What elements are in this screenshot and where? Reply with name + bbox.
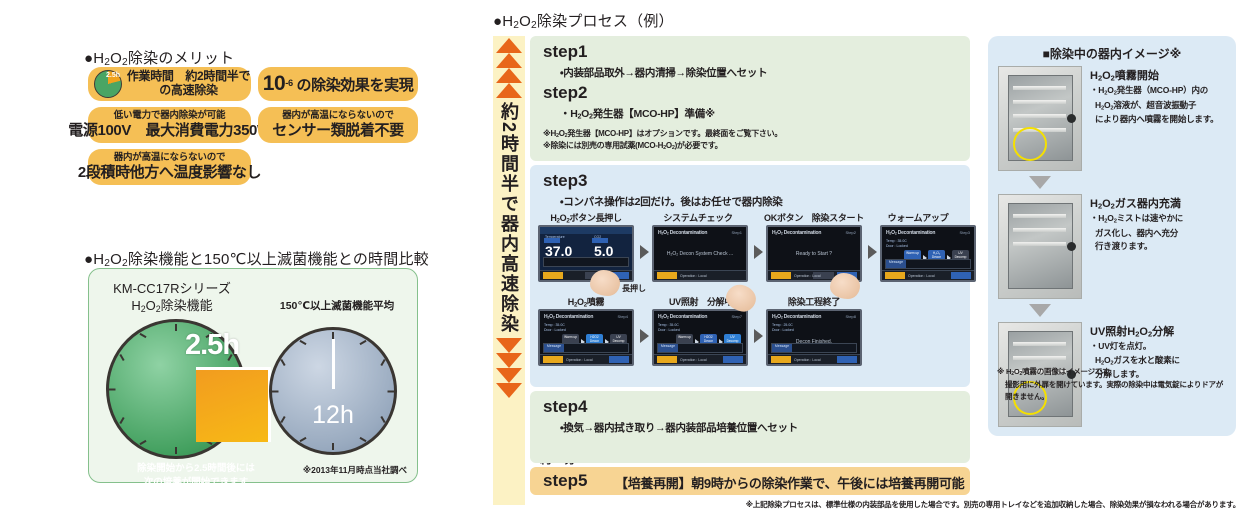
left-column: ●H2O2除染のメリット 2.5h 作業時間 約2時間半での高速除染 10-6 … xyxy=(0,0,470,530)
step1-description: ・内装部品取外→器内清掃→除染位置へセット xyxy=(560,65,767,80)
screen-operation-label: Operation : Local xyxy=(680,274,707,278)
screen-caption-system-check: システムチェック xyxy=(648,211,748,224)
log-reduction-exponent: -6 xyxy=(285,78,292,88)
merit-pill-low-power: 低い電力で器内除染が可能 電源100V 最大消費電力350W xyxy=(88,107,251,143)
screen-operation-label: Operation : Local xyxy=(794,274,821,278)
clock-green-caption: 除染開始から2.5時間後には 次の培養が開始できます xyxy=(128,462,264,490)
step-block-restart: step5 【培養再開】朝9時からの除染作業で、午後には培養再開可能 xyxy=(530,467,970,495)
chamber-photo-spray xyxy=(998,66,1082,171)
screen-step: Step4 xyxy=(618,314,628,319)
chamber-step-2-heading: H2O2ガス器内充満 xyxy=(1090,195,1181,211)
brochure-page: ●H2O2除染のメリット 2.5h 作業時間 約2時間半での高速除染 10-6 … xyxy=(0,0,1240,530)
control-panel-screen-home[interactable]: Temperature CO2 37.0 5.0 xyxy=(538,225,634,282)
finger-press-icon xyxy=(590,270,620,296)
screen-step: Step8 xyxy=(846,314,856,319)
step-block-decon: step3 ・コンパネ操作は2回だけ。後はお任せで器内除染 H2O2ボタン長押し… xyxy=(530,165,970,387)
merit-heading: ●H2O2除染のメリット xyxy=(84,47,234,68)
pie-clock-icon: 2.5h xyxy=(94,70,122,98)
chamber-step-2-body-line3: 行き渡ります。 xyxy=(1090,240,1183,254)
chamber-step-3-body-line1: ・UV灯を点灯。 xyxy=(1090,340,1180,354)
log-reduction-label: の除染効果を実現 xyxy=(297,77,414,94)
chamber-step-2-body: ・H2O2ミストは速やかに ガス化し、器内へ充分 行き渡ります。 xyxy=(1090,212,1183,254)
clock-green-caption-line2: 次の培養が開始できます xyxy=(128,476,264,490)
screen-title: H2O2 Decontamination xyxy=(772,314,821,320)
chamber-step-1-body-line2: H2O2溶液が、超音波振動子 xyxy=(1090,99,1218,114)
prep-note-2: ※除染には別売の専用試薬(MCO-H2O2)が必要です。 xyxy=(543,140,722,153)
step-block-cleanup: step4 ・換気→器内拭き取り→器内装部品培養位置へセット xyxy=(530,391,970,463)
screen-step: Step3 xyxy=(960,230,970,235)
chamber-image-panel-title: ■除染中の器内イメージ※ xyxy=(988,45,1236,62)
process-duration-rail: 約2時間半で器内高速除染 xyxy=(493,36,525,505)
merit-pill-no-heat-transfer-label: 2段積時他方へ温度影響なし xyxy=(78,164,261,181)
control-panel-screen-finished[interactable]: H2O2 Decontamination Step8 Temp : 25.0C … xyxy=(766,309,862,366)
chamber-step-3-heading: UV照射H2O2分解 xyxy=(1090,323,1174,339)
flow-arrow-down-icon xyxy=(1029,176,1051,189)
step4-description: ・換気→器内拭き取り→器内装部品培養位置へセット xyxy=(560,420,798,435)
rail-label: 約2時間半で器内高速除染 xyxy=(500,102,518,334)
flow-arrow-icon xyxy=(754,245,763,259)
merit-pill-log-reduction: 10-6 の除染効果を実現 xyxy=(258,67,418,101)
step-block-prep: step1 ・内装部品取外→器内清掃→除染位置へセット step2 ・H2O2発… xyxy=(530,36,970,161)
merit-pill-work-time-label: 作業時間 約2時間半での高速除染 xyxy=(126,70,251,98)
time-comparison-heading: ●H2O2除染機能と150℃以上滅菌機能との時間比較 xyxy=(84,248,429,269)
merit-pill-work-time: 2.5h 作業時間 約2時間半での高速除染 xyxy=(88,67,251,101)
merit-pill-no-heat-transfer-sub: 器内が高温にならないので xyxy=(114,153,226,164)
control-panel-screen-spray[interactable]: H2O2 Decontamination Step4 Temp : 35.0C … xyxy=(538,309,634,366)
step5-description: 【培養再開】朝9時からの除染作業で、午後には培養再開可能 xyxy=(615,473,964,492)
control-panel-screen-warmup[interactable]: H2O2 Decontamination Step3 Temp : 35.0C … xyxy=(880,225,976,282)
merit-pill-no-sensor-detach-sub: 器内が高温にならないので xyxy=(282,111,394,122)
flow-arrow-icon xyxy=(868,245,877,259)
rail-arrow-down-icon xyxy=(496,353,522,368)
screen-step: Step7 xyxy=(732,314,742,319)
screen-title: H2O2 Decontamination xyxy=(658,230,707,236)
chamber-step-2-body-line2: ガス化し、器内へ充分 xyxy=(1090,227,1183,241)
chamber-step-2-body-line1: ・H2O2ミストは速やかに xyxy=(1090,212,1183,227)
log-reduction-base: 10 xyxy=(263,72,286,95)
merit-pill-low-power-label: 電源100V 最大消費電力350W xyxy=(68,122,270,139)
rail-arrow-up-icon xyxy=(496,68,522,83)
chamber-step-1-body: ・H2O2発生器（MCO-HP）内の H2O2溶液が、超音波振動子 により器内へ… xyxy=(1090,84,1218,127)
screen-operation-label: Operation : Local xyxy=(794,358,821,362)
clock-green-title-line2: H2O2除染機能 xyxy=(97,298,247,315)
chamber-note-line2: 撮影用に外扉を開けています。実際の除染中は電気錠によりドアが xyxy=(997,379,1227,391)
screen-operation-label: Operation : Local xyxy=(908,274,935,278)
process-heading-text: ●H2O2除染プロセス（例） xyxy=(493,13,674,30)
screen-title: H2O2 Decontamination xyxy=(544,314,593,320)
clock-blue-hand xyxy=(332,339,335,389)
step4-title: step4 xyxy=(543,397,587,417)
screen-step: Step1 xyxy=(732,230,742,235)
flow-arrow-icon xyxy=(754,329,763,343)
flow-arrow-icon xyxy=(640,329,649,343)
step3-description: ・コンパネ操作は2回だけ。後はお任せで器内除染 xyxy=(560,194,782,209)
merit-pill-no-sensor-detach: 器内が高温にならないので センサー類脱着不要 xyxy=(258,107,418,143)
screen-operation-label: Operation : Local xyxy=(566,358,593,362)
step2-description: ・H2O2発生器【MCO-HP】準備※ xyxy=(560,106,715,121)
rail-arrow-up-icon xyxy=(496,83,522,98)
clock-green-caption-line1: 除染開始から2.5時間後には xyxy=(128,462,264,476)
time-comparison-footnote: ※2013年11月時点当社調べ xyxy=(303,464,407,476)
clock-blue-title: 150℃以上滅菌機能平均 xyxy=(267,298,407,313)
screen-title: H2O2 Decontamination xyxy=(772,230,821,236)
pie-clock-icon-label: 2.5h xyxy=(106,72,120,80)
screen-title: H2O2 Decontamination xyxy=(886,230,935,236)
screen-caption-decon-finished: 除染工程終了 xyxy=(762,295,866,308)
screen-message: H2O2 Decon System Check ... xyxy=(654,251,746,257)
flow-arrow-icon xyxy=(640,245,649,259)
chamber-note-line3: 開きません。 xyxy=(997,391,1227,403)
highlight-circle-icon xyxy=(1013,127,1047,161)
merit-pill-no-sensor-detach-label: センサー類脱着不要 xyxy=(272,122,403,139)
time-comparison-card: KM-CC17Rシリーズ H2O2除染機能 150℃以上滅菌機能平均 xyxy=(88,268,418,483)
chamber-image-panel: ■除染中の器内イメージ※ H2O2噴霧開始 ・H2O2発生器（MCO-HP）内の… xyxy=(988,36,1236,436)
chamber-step-1-body-line3: により器内へ噴霧を開始します。 xyxy=(1090,113,1218,127)
process-footnote: ※上記除染プロセスは、標準仕様の内装部品を使用した場合です。別売の専用トレイなど… xyxy=(600,499,1240,510)
screen-message: Ready to Start ? xyxy=(768,251,860,257)
flow-arrow-down-icon xyxy=(1029,304,1051,317)
chamber-step-1-heading: H2O2噴霧開始 xyxy=(1090,67,1159,83)
screen-title: H2O2 Decontamination xyxy=(658,314,707,320)
rail-arrow-up-icon xyxy=(496,38,522,53)
screen-operation-label: Operation : Local xyxy=(680,358,707,362)
clock-green-wedge xyxy=(196,367,271,442)
control-panel-screen-uv[interactable]: H2O2 Decontamination Step7 Temp : 35.0C … xyxy=(652,309,748,366)
screen-caption-h2o2-spray: H2O2噴霧 xyxy=(536,295,636,308)
screen-caption-ok-start: OKボタン 除染スタート xyxy=(758,211,870,224)
merit-pill-no-heat-transfer: 器内が高温にならないので 2段積時他方へ温度影響なし xyxy=(88,149,251,185)
rail-arrow-down-icon xyxy=(496,338,522,353)
merit-pill-low-power-sub: 低い電力で器内除染が可能 xyxy=(114,111,226,122)
step2-title: step2 xyxy=(543,83,587,103)
clock-green-value: 2.5h xyxy=(185,329,239,362)
clock-green-title-line1: KM-CC17Rシリーズ xyxy=(97,281,247,298)
rail-arrow-down-icon xyxy=(496,383,522,398)
screen-step: Step2 xyxy=(846,230,856,235)
long-press-label: 長押し xyxy=(622,283,646,294)
merit-heading-text: ●H2O2除染のメリット xyxy=(84,50,234,67)
chamber-photo-gas-fill xyxy=(998,194,1082,299)
screen-caption-h2o2-button: H2O2ボタン長押し xyxy=(536,211,636,224)
time-comparison-heading-text: ●H2O2除染機能と150℃以上滅菌機能との時間比較 xyxy=(84,251,429,268)
process-heading: ●H2O2除染プロセス（例） xyxy=(493,10,674,31)
clock-green-title: KM-CC17Rシリーズ H2O2除染機能 xyxy=(97,281,247,315)
chamber-image-panel-note: ※ H2O2噴霧の画像はイメージです。 撮影用に外扉を開けています。実際の除染中… xyxy=(997,366,1227,402)
screen-caption-warmup: ウォームアップ xyxy=(870,211,966,224)
right-column: ●H2O2除染プロセス（例） 約2時間半で器内高速除染 9:25 【準備】 約1… xyxy=(470,0,1240,530)
chamber-step-1-body-line1: ・H2O2発生器（MCO-HP）内の xyxy=(1090,84,1218,99)
control-panel-screen-system-check[interactable]: H2O2 Decontamination Step1 H2O2 Decon Sy… xyxy=(652,225,748,282)
rail-arrow-up-icon xyxy=(496,53,522,68)
clock-blue-value: 12h xyxy=(269,401,397,430)
step1-title: step1 xyxy=(543,42,587,62)
rail-arrow-down-icon xyxy=(496,368,522,383)
step3-title: step3 xyxy=(543,171,587,191)
chamber-note-line1: ※ H2O2噴霧の画像はイメージです。 xyxy=(997,366,1227,379)
step5-title: step5 xyxy=(543,471,587,491)
